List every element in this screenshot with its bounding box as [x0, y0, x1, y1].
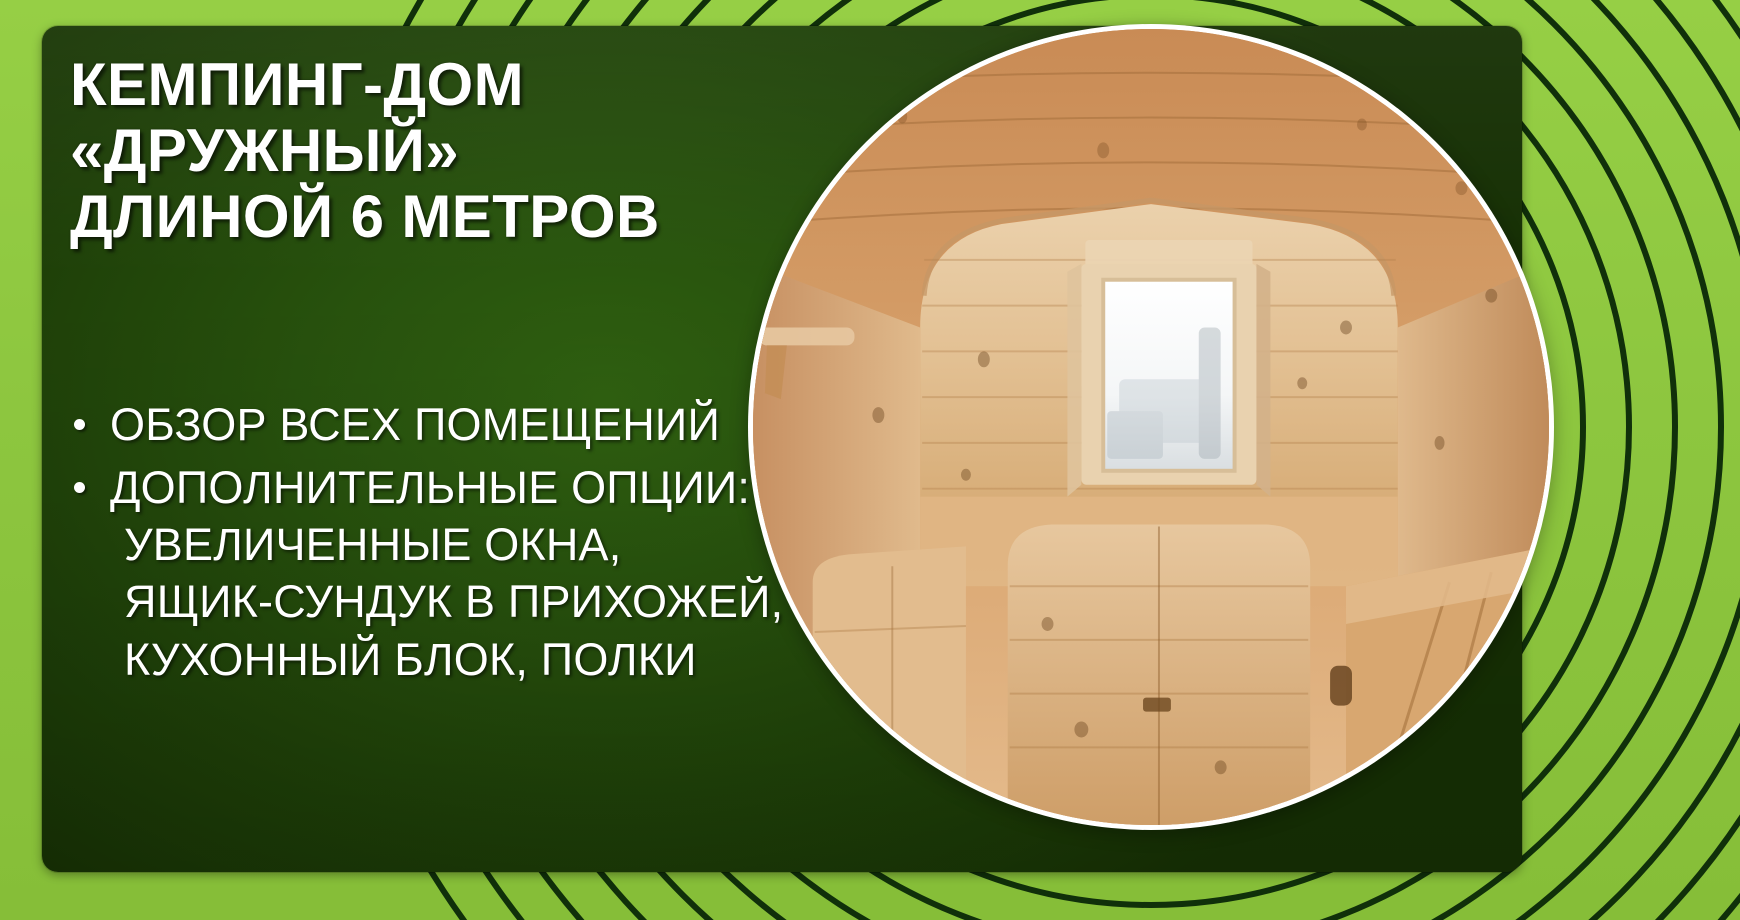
list-item: ДОПОЛНИТЕЛЬНЫЕ ОПЦИИ: УВЕЛИЧЕННЫЕ ОКНА, …	[70, 459, 830, 688]
feature-list: ОБЗОР ВСЕХ ПОМЕЩЕНИЙ ДОПОЛНИТЕЛЬНЫЕ ОПЦИ…	[70, 396, 830, 688]
headline-line-1: КЕМПИНГ-ДОМ	[70, 52, 830, 118]
promo-banner: КЕМПИНГ-ДОМ «ДРУЖНЫЙ» ДЛИНОЙ 6 МЕТРОВ ОБ…	[0, 0, 1740, 920]
headline-line-2: «ДРУЖНЫЙ»	[70, 118, 830, 184]
list-item: ОБЗОР ВСЕХ ПОМЕЩЕНИЙ	[70, 396, 830, 453]
photo-circle-ring	[748, 24, 1554, 830]
text-column: КЕМПИНГ-ДОМ «ДРУЖНЫЙ» ДЛИНОЙ 6 МЕТРОВ ОБ…	[70, 44, 830, 704]
bullet-text: ДОПОЛНИТЕЛЬНЫЕ ОПЦИИ:	[110, 462, 750, 513]
headline: КЕМПИНГ-ДОМ «ДРУЖНЫЙ» ДЛИНОЙ 6 МЕТРОВ	[70, 52, 830, 250]
page-title: КЕМПИНГ-ДОМ «ДРУЖНЫЙ» ДЛИНОЙ 6 МЕТРОВ	[70, 52, 830, 250]
bullet-subline: ЯЩИК-СУНДУК В ПРИХОЖЕЙ,	[110, 573, 830, 630]
bullet-text: ОБЗОР ВСЕХ ПОМЕЩЕНИЙ	[110, 399, 720, 450]
bullet-subline: КУХОННЫЙ БЛОК, ПОЛКИ	[110, 631, 830, 688]
bullet-dot-icon	[74, 482, 85, 493]
cabin-interior-photo	[753, 29, 1549, 825]
bullet-subline: УВЕЛИЧЕННЫЕ ОКНА,	[110, 516, 830, 573]
bullet-dot-icon	[74, 419, 85, 430]
headline-line-3: ДЛИНОЙ 6 МЕТРОВ	[70, 184, 830, 250]
